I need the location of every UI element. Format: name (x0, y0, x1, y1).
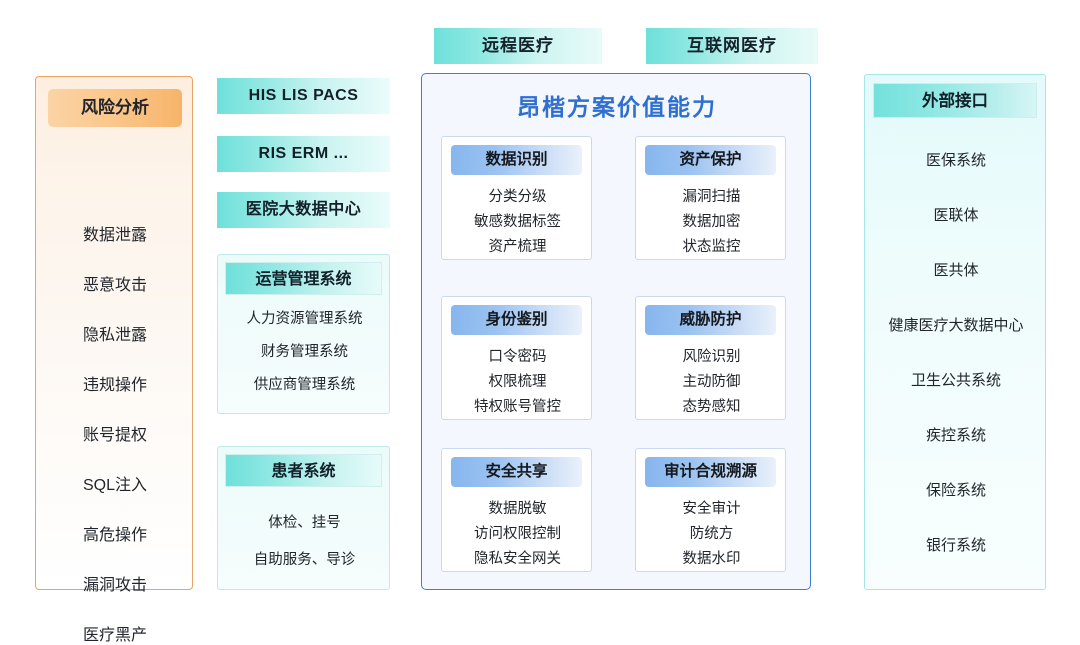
operations-management-panel: 运营管理系统 人力资源管理系统 财务管理系统 供应商管理系统 (217, 254, 390, 414)
card-item: 风险识别 (636, 345, 787, 366)
card-item: 访问权限控制 (442, 522, 593, 543)
card-item: 防统方 (636, 522, 787, 543)
bar-his-lis-pacs: HIS LIS PACS (217, 78, 390, 114)
card-item: 权限梳理 (442, 370, 593, 391)
card-header: 数据识别 (451, 145, 582, 175)
operations-item-3: 供应商管理系统 (218, 373, 391, 394)
capability-card-data-identification: 数据识别 分类分级 敏感数据标签 资产梳理 (441, 136, 592, 260)
card-header: 安全共享 (451, 457, 582, 487)
capability-card-threat-protection: 威胁防护 风险识别 主动防御 态势感知 (635, 296, 786, 420)
capability-card-asset-protection: 资产保护 漏洞扫描 数据加密 状态监控 (635, 136, 786, 260)
risk-analysis-header: 风险分析 (48, 89, 182, 127)
tag-internet-medical: 互联网医疗 (646, 28, 818, 64)
value-capability-panel: 昂楷方案价值能力 数据识别 分类分级 敏感数据标签 资产梳理 资产保护 漏洞扫描… (421, 73, 811, 590)
external-item-6: 疾控系统 (865, 424, 1047, 445)
card-item: 状态监控 (636, 235, 787, 256)
external-item-8: 银行系统 (865, 534, 1047, 555)
card-header: 威胁防护 (645, 305, 776, 335)
external-interface-header: 外部接口 (873, 83, 1037, 118)
bar-ris-erm: RIS ERM ... (217, 136, 390, 172)
risk-item-9: 医疗黑产 (36, 621, 194, 645)
card-item: 态势感知 (636, 395, 787, 416)
card-header: 资产保护 (645, 145, 776, 175)
operations-item-2: 财务管理系统 (218, 340, 391, 361)
risk-item-4: 违规操作 (36, 371, 194, 395)
risk-item-5: 账号提权 (36, 421, 194, 445)
card-item: 敏感数据标签 (442, 210, 593, 231)
risk-item-1: 数据泄露 (36, 221, 194, 245)
risk-analysis-panel: 风险分析 数据泄露 恶意攻击 隐私泄露 违规操作 账号提权 SQL注入 高危操作… (35, 76, 193, 590)
operations-management-header: 运营管理系统 (225, 262, 382, 295)
external-item-2: 医联体 (865, 204, 1047, 225)
tag-remote-medical: 远程医疗 (434, 28, 602, 64)
external-item-5: 卫生公共系统 (865, 369, 1047, 390)
card-header: 审计合规溯源 (645, 457, 776, 487)
external-item-3: 医共体 (865, 259, 1047, 280)
external-interface-panel: 外部接口 医保系统 医联体 医共体 健康医疗大数据中心 卫生公共系统 疾控系统 … (864, 74, 1046, 590)
patient-item-2: 自助服务、导诊 (218, 548, 391, 569)
external-item-7: 保险系统 (865, 479, 1047, 500)
external-item-4: 健康医疗大数据中心 (865, 314, 1047, 335)
capability-card-audit-compliance: 审计合规溯源 安全审计 防统方 数据水印 (635, 448, 786, 572)
card-item: 漏洞扫描 (636, 185, 787, 206)
risk-item-3: 隐私泄露 (36, 321, 194, 345)
patient-system-header: 患者系统 (225, 454, 382, 487)
card-item: 数据脱敏 (442, 497, 593, 518)
patient-system-panel: 患者系统 体检、挂号 自助服务、导诊 (217, 446, 390, 590)
card-item: 数据水印 (636, 547, 787, 568)
card-item: 主动防御 (636, 370, 787, 391)
capability-card-secure-sharing: 安全共享 数据脱敏 访问权限控制 隐私安全网关 (441, 448, 592, 572)
card-item: 特权账号管控 (442, 395, 593, 416)
value-capability-title: 昂楷方案价值能力 (422, 88, 812, 122)
risk-item-6: SQL注入 (36, 471, 194, 495)
card-item: 数据加密 (636, 210, 787, 231)
card-item: 隐私安全网关 (442, 547, 593, 568)
card-item: 口令密码 (442, 345, 593, 366)
risk-item-8: 漏洞攻击 (36, 571, 194, 595)
risk-item-7: 高危操作 (36, 521, 194, 545)
card-item: 资产梳理 (442, 235, 593, 256)
operations-item-1: 人力资源管理系统 (218, 307, 391, 328)
external-item-1: 医保系统 (865, 149, 1047, 170)
diagram-canvas: 远程医疗 互联网医疗 风险分析 数据泄露 恶意攻击 隐私泄露 违规操作 账号提权… (0, 0, 1080, 616)
card-item: 分类分级 (442, 185, 593, 206)
risk-item-2: 恶意攻击 (36, 271, 194, 295)
card-header: 身份鉴别 (451, 305, 582, 335)
card-item: 安全审计 (636, 497, 787, 518)
capability-card-identity-authentication: 身份鉴别 口令密码 权限梳理 特权账号管控 (441, 296, 592, 420)
bar-hospital-bigdata-center: 医院大数据中心 (217, 192, 390, 228)
patient-item-1: 体检、挂号 (218, 511, 391, 532)
